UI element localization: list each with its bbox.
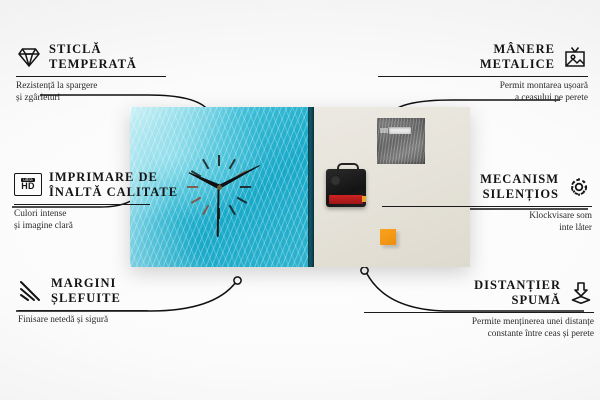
callout-rule <box>378 76 588 77</box>
callout-desc-line1: Culori intense <box>14 208 224 220</box>
callout-title-line2: ȘLEFUITE <box>51 291 121 306</box>
movement-dial <box>330 175 341 186</box>
callout-rule <box>16 76 166 77</box>
callout-title-line2: SILENȚIOS <box>480 187 559 202</box>
callout-desc-line2: constante între ceas și perete <box>364 328 594 340</box>
callout-title-line1: DISTANȚIER <box>474 278 561 293</box>
callout-title-line2: ÎNALTĂ CALITATE <box>49 185 178 200</box>
callout-rule <box>14 204 150 205</box>
callout-title-line1: MARGINI <box>51 276 121 291</box>
press-down-pad-icon <box>568 281 594 305</box>
callout-desc-line2: și zgârieturi <box>16 92 216 104</box>
callout-rule <box>382 206 592 207</box>
callout-rule <box>18 310 148 311</box>
callout-polished-edges: MARGINI ȘLEFUITE Finisare netedă și sigu… <box>18 276 228 326</box>
callout-title-line1: STICLĂ <box>49 42 137 57</box>
diagonal-lines-icon <box>18 279 44 303</box>
callout-tempered-glass: STICLĂ TEMPERATĂ Rezistență la spargere … <box>16 42 216 105</box>
clock-movement-module <box>326 169 366 207</box>
callout-desc-line2: și imagine clară <box>14 220 224 232</box>
diamond-icon <box>16 45 42 69</box>
callout-title-line2: TEMPERATĂ <box>49 57 137 72</box>
gear-icon <box>566 175 592 199</box>
callout-desc-line1: Klockvisare som <box>382 210 592 222</box>
callout-title-line2: METALICE <box>480 57 555 72</box>
callout-desc-line1: Permit montarea ușoară <box>378 80 588 92</box>
ultra-hd-icon: ultra HD <box>14 173 42 196</box>
callout-title-line2: SPUMĂ <box>474 293 561 308</box>
callout-desc-line1: Permite menținerea unei distanțe <box>364 316 594 328</box>
framed-picture-hook-icon <box>562 45 588 69</box>
callout-desc-line2: inte låter <box>382 222 592 234</box>
battery <box>329 195 363 204</box>
callout-foam-spacer: DISTANȚIER SPUMĂ Permite menținerea unei… <box>364 278 594 341</box>
metal-hanger-plate <box>377 118 425 164</box>
callout-desc-line1: Rezistență la spargere <box>16 80 216 92</box>
callout-title-line1: IMPRIMARE DE <box>49 170 178 185</box>
ultra-hd-icon-big-label: HD <box>21 182 35 191</box>
callout-rule <box>364 312 594 313</box>
callout-desc-line2: a ceasului pe perete <box>378 92 588 104</box>
callout-title-line1: MÂNERE <box>480 42 555 57</box>
callout-title-line1: MECANISM <box>480 172 559 187</box>
callout-desc-line1: Finisare netedă și sigură <box>18 314 228 326</box>
callout-silent-mechanism: MECANISM SILENȚIOS Klockvisare som inte … <box>382 172 592 235</box>
callout-high-quality-print: ultra HD IMPRIMARE DE ÎNALTĂ CALITATE Cu… <box>14 170 224 233</box>
infographic-canvas: STICLĂ TEMPERATĂ Rezistență la spargere … <box>0 0 600 400</box>
callout-metal-handles: MÂNERE METALICE Permit montarea ușoară a… <box>378 42 588 105</box>
hanger-slot <box>389 127 411 134</box>
